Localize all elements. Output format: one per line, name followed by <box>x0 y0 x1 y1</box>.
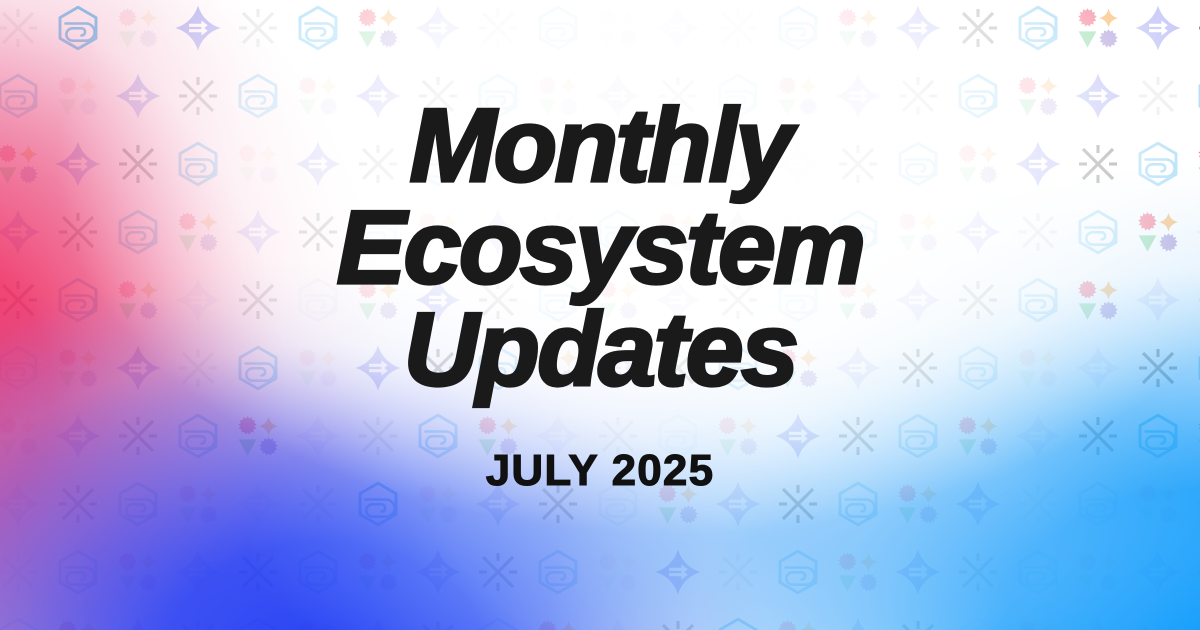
asterisk-icon <box>1194 548 1200 596</box>
swap-diamond-icon <box>1134 4 1182 52</box>
hexagon-spiral-icon <box>954 616 1002 630</box>
shape-cluster-icon <box>834 548 882 596</box>
hexagon-spiral-icon <box>0 616 42 630</box>
shape-cluster-icon <box>834 4 882 52</box>
asterisk-icon <box>234 548 282 596</box>
asterisk-icon <box>414 616 462 630</box>
asterisk-icon <box>714 548 762 596</box>
shape-cluster-icon <box>114 4 162 52</box>
shape-cluster-icon <box>774 616 822 630</box>
hexagon-spiral-icon <box>1014 548 1062 596</box>
asterisk-icon <box>1134 616 1182 630</box>
swap-diamond-icon <box>894 548 942 596</box>
asterisk-icon <box>714 4 762 52</box>
hexagon-spiral-icon <box>474 616 522 630</box>
banner-headline: Monthly Ecosystem Updates <box>40 96 1160 402</box>
banner-subtitle-date: JULY 2025 <box>40 402 1160 496</box>
hexagon-spiral-icon <box>1194 616 1200 630</box>
shape-cluster-icon <box>54 616 102 630</box>
hexagon-spiral-icon <box>234 616 282 630</box>
shape-cluster-icon <box>354 548 402 596</box>
swap-diamond-icon <box>414 548 462 596</box>
asterisk-icon <box>1194 4 1200 52</box>
shape-cluster-icon <box>594 4 642 52</box>
shape-cluster-icon <box>594 548 642 596</box>
shape-cluster-icon <box>534 616 582 630</box>
asterisk-icon <box>0 4 42 52</box>
asterisk-icon <box>474 548 522 596</box>
hexagon-spiral-icon <box>1014 4 1062 52</box>
hexagon-spiral-icon <box>54 4 102 52</box>
swap-diamond-icon <box>354 616 402 630</box>
hexagon-spiral-icon <box>534 548 582 596</box>
swap-diamond-icon <box>114 616 162 630</box>
hexagon-spiral-icon <box>294 548 342 596</box>
swap-diamond-icon <box>894 4 942 52</box>
swap-diamond-icon <box>594 616 642 630</box>
asterisk-icon <box>234 4 282 52</box>
shape-cluster-icon <box>1014 616 1062 630</box>
swap-diamond-icon <box>1074 616 1122 630</box>
asterisk-icon <box>654 616 702 630</box>
swap-diamond-icon <box>654 4 702 52</box>
shape-cluster-icon <box>354 4 402 52</box>
ecosystem-update-banner: Monthly Ecosystem Updates JULY 2025 <box>0 0 1200 630</box>
swap-diamond-icon <box>414 4 462 52</box>
asterisk-icon <box>894 616 942 630</box>
shape-cluster-icon <box>1074 4 1122 52</box>
asterisk-icon <box>0 548 42 596</box>
asterisk-icon <box>954 548 1002 596</box>
hexagon-spiral-icon <box>534 4 582 52</box>
swap-diamond-icon <box>834 616 882 630</box>
hexagon-spiral-icon <box>774 4 822 52</box>
banner-text-block: Monthly Ecosystem Updates JULY 2025 <box>0 96 1200 496</box>
shape-cluster-icon <box>294 616 342 630</box>
hexagon-spiral-icon <box>774 548 822 596</box>
hexagon-spiral-icon <box>714 616 762 630</box>
swap-diamond-icon <box>1134 548 1182 596</box>
hexagon-spiral-icon <box>54 548 102 596</box>
shape-cluster-icon <box>114 548 162 596</box>
swap-diamond-icon <box>174 4 222 52</box>
shape-cluster-icon <box>1074 548 1122 596</box>
asterisk-icon <box>474 4 522 52</box>
swap-diamond-icon <box>174 548 222 596</box>
asterisk-icon <box>174 616 222 630</box>
asterisk-icon <box>954 4 1002 52</box>
swap-diamond-icon <box>654 548 702 596</box>
hexagon-spiral-icon <box>294 4 342 52</box>
